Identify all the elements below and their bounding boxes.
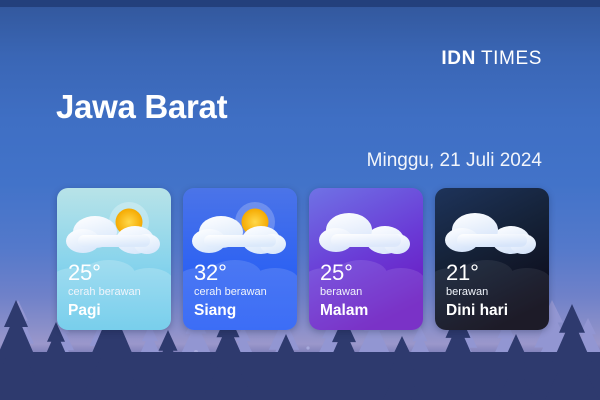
logo-light-text: TIMES <box>481 48 542 69</box>
card-text-block: 25° cerah berawan Pagi <box>68 262 165 321</box>
card-condition: cerah berawan <box>194 285 291 301</box>
forecast-card[interactable]: 21° berawan Dini hari <box>435 188 549 330</box>
card-condition: berawan <box>446 285 543 301</box>
weather-infographic: IDNTIMES Jawa Barat Minggu, 21 Juli 2024 <box>0 0 600 400</box>
card-temperature: 32° <box>194 262 291 284</box>
card-text-block: 32° cerah berawan Siang <box>194 262 291 321</box>
card-condition: cerah berawan <box>68 285 165 301</box>
forecast-card[interactable]: 25° berawan Malam <box>309 188 423 330</box>
card-condition: berawan <box>320 285 417 301</box>
forecast-date: Minggu, 21 Juli 2024 <box>367 150 542 172</box>
card-period: Malam <box>320 301 417 321</box>
card-period: Pagi <box>68 301 165 321</box>
card-temperature: 25° <box>320 262 417 284</box>
card-period: Dini hari <box>446 301 543 321</box>
card-temperature: 21° <box>446 262 543 284</box>
page-title: Jawa Barat <box>56 88 227 126</box>
forecast-card[interactable]: 32° cerah berawan Siang <box>183 188 297 330</box>
logo-bold-text: IDN <box>441 48 476 69</box>
card-text-block: 25° berawan Malam <box>320 262 417 321</box>
idn-times-logo: IDNTIMES <box>441 48 542 70</box>
card-temperature: 25° <box>68 262 165 284</box>
forecast-card[interactable]: 25° cerah berawan Pagi <box>57 188 171 330</box>
forecast-card-list: 25° cerah berawan Pagi <box>57 188 549 330</box>
card-period: Siang <box>194 301 291 321</box>
card-text-block: 21° berawan Dini hari <box>446 262 543 321</box>
